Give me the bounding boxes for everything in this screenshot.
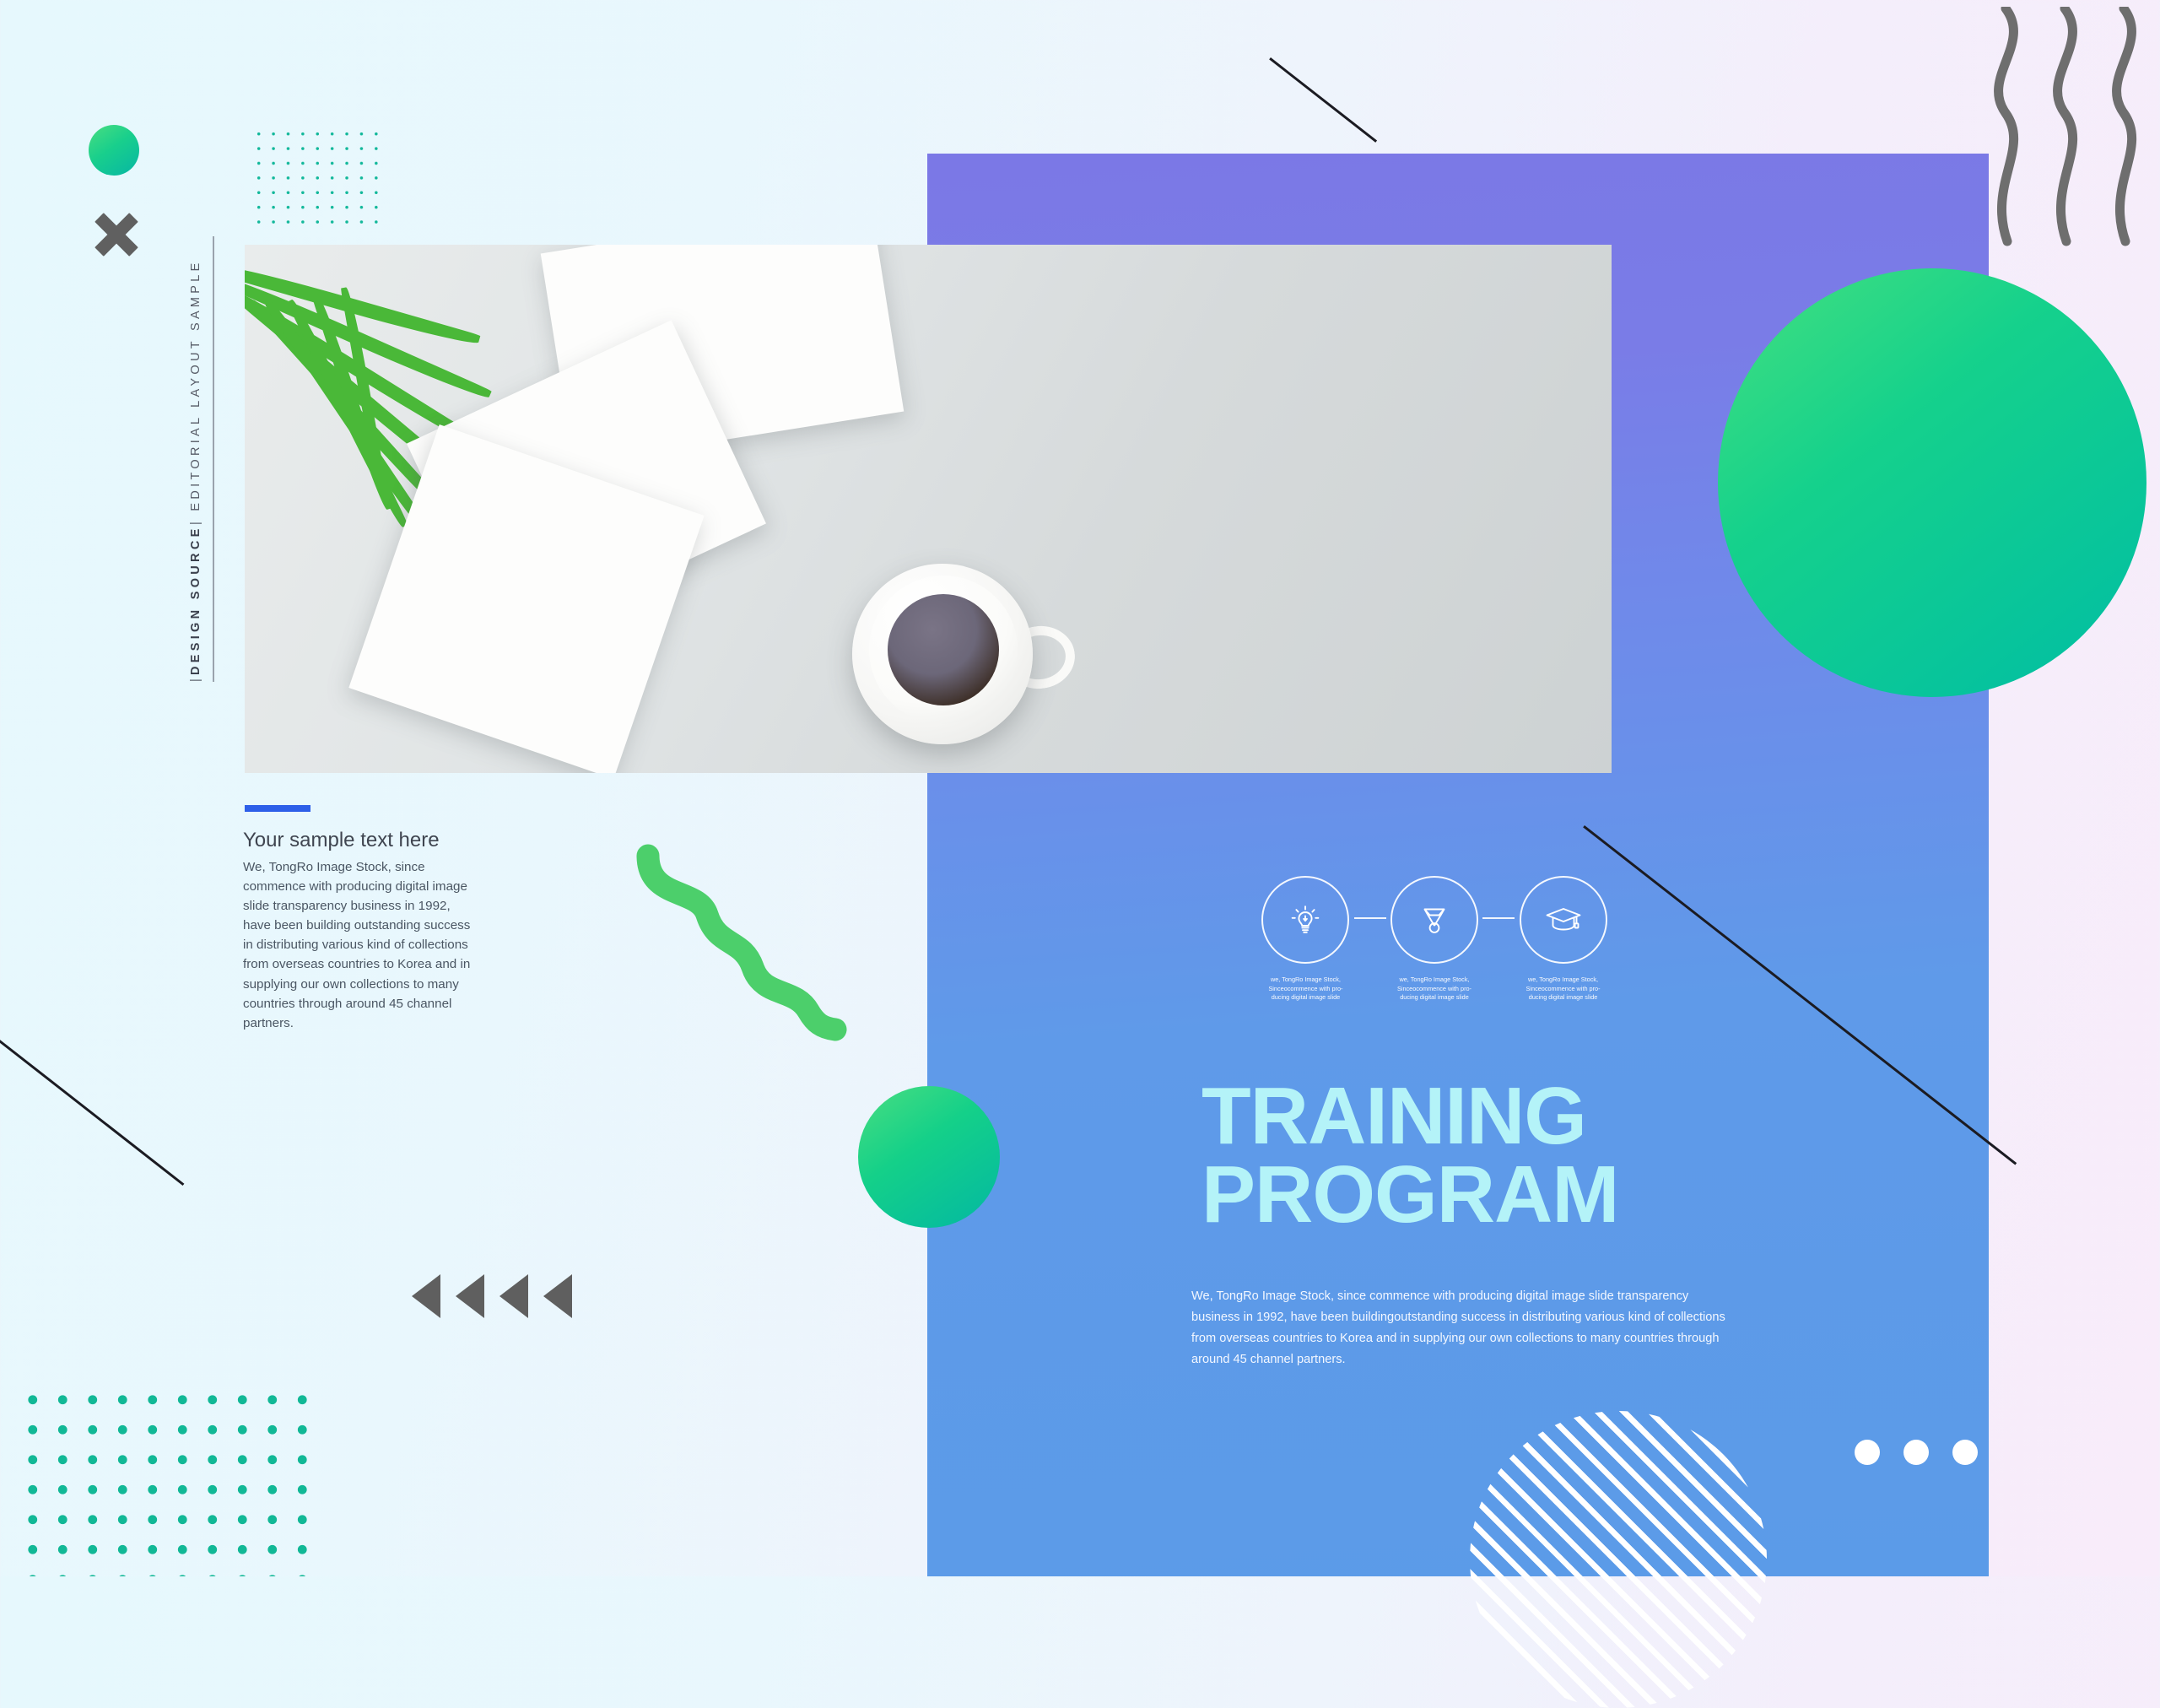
green-circle-large <box>1718 268 2146 697</box>
left-copy-body: We, TongRo Image Stock, since commence w… <box>243 857 478 1033</box>
page-title: TRAINING PROGRAM <box>1201 1077 1893 1234</box>
feature-caption: we, TongRo Image Stock, Sinceocommence w… <box>1520 976 1607 1003</box>
triangle-left-icon <box>456 1274 484 1318</box>
page-title-line1: TRAINING <box>1201 1077 1893 1155</box>
diagonal-line-top <box>1269 57 1377 143</box>
feature-caption: we, TongRo Image Stock, Sinceocommence w… <box>1390 976 1478 1003</box>
vertical-label-prefix: | <box>189 675 202 682</box>
green-squiggle-decoration <box>634 844 854 1046</box>
green-circle-medium <box>858 1086 1000 1228</box>
feature-item-education[interactable]: we, TongRo Image Stock, Sinceocommence w… <box>1515 876 1612 1003</box>
feature-caption: we, TongRo Image Stock, Sinceocommence w… <box>1261 976 1349 1003</box>
vertical-editorial-label: | DESIGN SOURCE | EDITORIAL LAYOUT SAMPL… <box>189 243 219 682</box>
graduation-cap-icon <box>1520 876 1607 964</box>
connector-line <box>1482 917 1515 919</box>
green-circle-small <box>89 125 139 176</box>
feature-item-idea[interactable]: we, TongRo Image Stock, Sinceocommence w… <box>1257 876 1354 1003</box>
vertical-label-rest: | EDITORIAL LAYOUT SAMPLE <box>189 260 202 526</box>
white-dots-row <box>1855 1440 1978 1465</box>
coffee-surface <box>888 594 999 705</box>
triangle-left-icon <box>543 1274 572 1318</box>
white-dot <box>1952 1440 1978 1465</box>
striped-circle-decoration <box>1470 1411 1767 1708</box>
diagonal-line-bottom-left <box>0 1028 184 1186</box>
white-dot <box>1855 1440 1880 1465</box>
feature-icon-row: we, TongRo Image Stock, Sinceocommence w… <box>1257 876 1612 1003</box>
feature-item-award[interactable]: we, TongRo Image Stock, Sinceocommence w… <box>1386 876 1483 1003</box>
vertical-label-bold: DESIGN SOURCE <box>189 525 202 675</box>
left-copy-heading: Your sample text here <box>243 829 580 852</box>
triangle-left-icon <box>499 1274 528 1318</box>
dot-grid-large <box>13 1381 319 1576</box>
panel-body-text: We, TongRo Image Stock, since commence w… <box>1191 1286 1731 1370</box>
white-dot <box>1903 1440 1929 1465</box>
connector-line <box>1354 917 1386 919</box>
dot-grid-small <box>250 125 383 228</box>
hero-photo <box>245 245 1612 773</box>
medal-icon <box>1390 876 1478 964</box>
lightbulb-icon <box>1261 876 1349 964</box>
accent-bar <box>245 805 310 812</box>
wavy-lines-decoration <box>1987 7 2160 251</box>
triangle-left-icon <box>412 1274 440 1318</box>
x-mark-icon <box>93 211 140 258</box>
page-title-line2: PROGRAM <box>1201 1155 1893 1234</box>
triangle-row <box>412 1274 572 1318</box>
